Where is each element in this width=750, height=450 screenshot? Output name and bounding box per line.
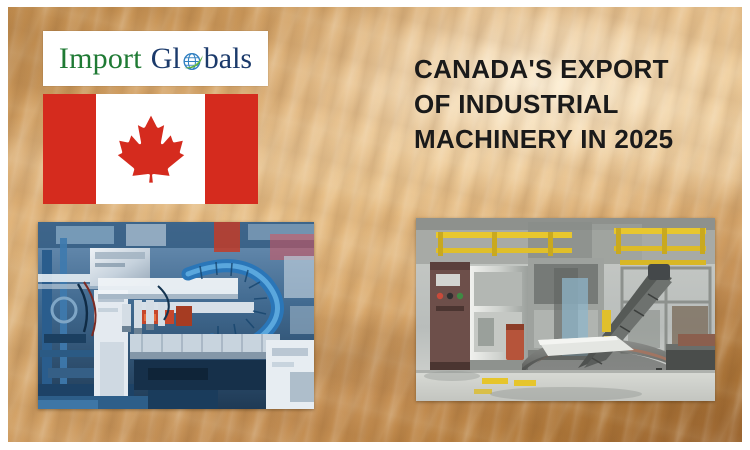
logo-word-globals-prefix: Gl: [151, 44, 181, 74]
page-title-line-2: OF INDUSTRIAL: [414, 87, 724, 122]
canada-flag: [43, 94, 258, 204]
flag-band-right: [205, 94, 258, 204]
logo-word-globals-suffix: bals: [204, 44, 252, 74]
photo-automation-machinery: [38, 222, 314, 409]
page-title: CANADA'S EXPORT OF INDUSTRIAL MACHINERY …: [414, 52, 724, 157]
page-title-line-3: MACHINERY IN 2025: [414, 122, 724, 157]
maple-leaf-icon: [117, 113, 185, 185]
photo-factory-conveyor: [416, 218, 715, 401]
globe-icon: [181, 49, 204, 72]
logo-wordmark: Import Gl bals: [59, 44, 252, 74]
flag-band-left: [43, 94, 96, 204]
flag-center-field: [96, 94, 205, 204]
logo-word-import: Import: [59, 44, 142, 74]
logo-card[interactable]: Import Gl bals: [43, 31, 268, 86]
page-title-line-1: CANADA'S EXPORT: [414, 52, 724, 87]
poster-canvas: Import Gl bals: [0, 0, 750, 450]
